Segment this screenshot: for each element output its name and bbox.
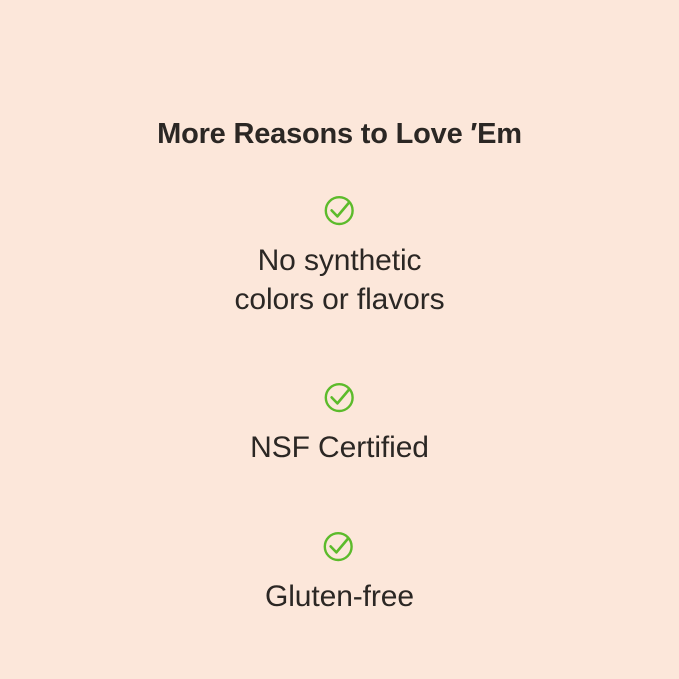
list-item: Gluten-free [265,529,414,616]
check-circle-icon [323,380,357,414]
check-circle-icon [322,529,356,563]
list-item-label-line: No synthetic [234,242,444,280]
page-title: More Reasons to Love ′Em [157,118,522,151]
list-item-label-line: colors or flavors [234,281,444,319]
list-item-label: NSF Certified [250,429,429,467]
list-item: No synthetic colors or flavors [234,193,444,319]
list-item-label-line: Gluten-free [265,578,414,616]
list-item: NSF Certified [250,380,429,467]
benefits-panel: More Reasons to Love ′Em No synthetic co… [0,0,679,679]
list-item-label-line: NSF Certified [250,429,429,467]
benefit-list: No synthetic colors or flavors NSF Certi… [0,151,679,616]
check-circle-icon [323,193,357,227]
list-item-label: No synthetic colors or flavors [234,242,444,319]
list-item-label: Gluten-free [265,578,414,616]
